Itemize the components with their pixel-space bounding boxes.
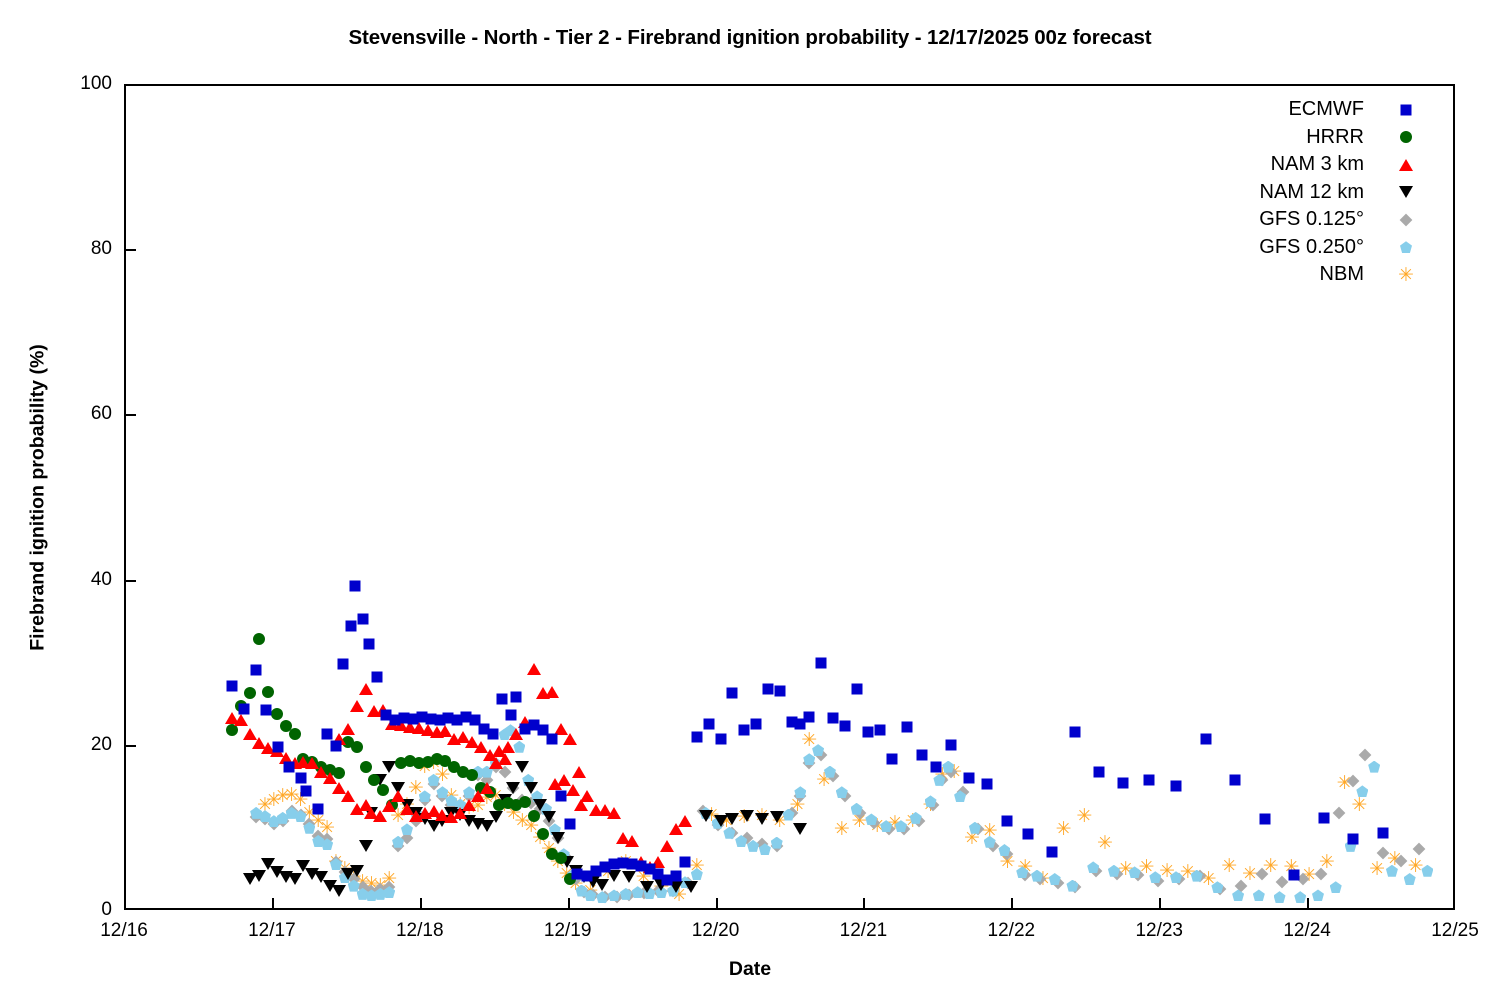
data-point <box>498 765 511 778</box>
data-point <box>513 741 525 753</box>
data-point <box>359 799 373 811</box>
data-point <box>315 761 327 773</box>
data-point <box>244 687 256 699</box>
legend-item-gfs-0-250[interactable]: GFS 0.250° <box>1160 234 1420 262</box>
data-point <box>252 870 266 882</box>
data-point <box>620 888 632 900</box>
data-point: ✳ <box>346 869 362 885</box>
data-point <box>582 871 593 882</box>
data-point <box>910 812 922 824</box>
data-point <box>957 786 970 799</box>
data-point <box>444 811 458 823</box>
data-point: ✳ <box>293 792 309 808</box>
data-point <box>296 860 310 872</box>
data-point <box>794 786 806 798</box>
data-point <box>536 687 550 699</box>
data-point <box>374 882 387 895</box>
data-point: ✳ <box>1337 775 1353 791</box>
data-point <box>580 790 594 802</box>
data-point <box>350 700 364 712</box>
data-point <box>1171 781 1182 792</box>
data-point <box>696 805 709 818</box>
legend: ECMWFHRRRNAM 3 kmNAM 12 kmGFS 0.125°GFS … <box>1160 96 1420 289</box>
data-point <box>887 754 898 765</box>
data-point <box>270 745 284 757</box>
data-point <box>427 805 441 817</box>
x-axis-title: Date <box>0 958 1500 981</box>
data-point <box>444 807 458 819</box>
data-point <box>456 731 470 743</box>
data-point <box>916 750 927 761</box>
data-point <box>981 778 992 789</box>
data-point <box>392 840 405 853</box>
data-point: ✳ <box>514 813 530 829</box>
data-point: ✳ <box>1283 859 1299 875</box>
data-point <box>998 844 1010 856</box>
data-point <box>703 718 714 729</box>
data-point <box>564 819 575 830</box>
data-point <box>472 766 484 778</box>
data-point <box>314 871 328 883</box>
data-point: ✳ <box>772 813 788 829</box>
data-point <box>815 749 828 762</box>
y-tick-label: 20 <box>52 734 112 756</box>
data-point: ✳ <box>618 854 634 870</box>
data-point <box>895 820 907 832</box>
data-point <box>1359 749 1372 762</box>
data-point <box>984 836 996 848</box>
data-point <box>445 794 457 806</box>
data-point: ✳ <box>1138 859 1154 875</box>
data-point <box>226 724 238 736</box>
data-point: ✳ <box>999 854 1015 870</box>
data-point <box>901 721 912 732</box>
data-point <box>394 719 408 731</box>
data-point <box>880 820 892 832</box>
data-point: ✳ <box>1097 835 1113 851</box>
data-point <box>969 822 981 834</box>
data-point <box>678 815 692 827</box>
data-point <box>286 807 298 819</box>
data-point <box>575 885 587 897</box>
data-point <box>347 873 360 886</box>
data-point <box>868 816 881 829</box>
data-point <box>654 879 668 891</box>
data-point <box>391 782 405 794</box>
data-point: ✳ <box>923 797 939 813</box>
data-point <box>1066 880 1078 892</box>
data-point <box>589 804 603 816</box>
data-point <box>567 869 579 881</box>
data-point <box>301 786 312 797</box>
data-point <box>489 760 502 773</box>
data-point <box>412 722 426 734</box>
data-point <box>534 802 547 815</box>
data-point: ✳ <box>434 767 450 783</box>
data-point <box>279 752 293 764</box>
data-point <box>635 860 646 871</box>
data-point <box>793 823 807 835</box>
data-point <box>531 790 543 802</box>
data-point <box>540 803 552 815</box>
data-point <box>1274 891 1286 903</box>
data-point <box>288 757 302 769</box>
data-point <box>359 683 373 695</box>
data-point <box>851 803 863 815</box>
data-point <box>253 633 265 645</box>
data-point: ✳ <box>1221 858 1237 874</box>
data-point <box>528 810 540 822</box>
data-point <box>1046 846 1057 857</box>
data-point <box>524 782 538 794</box>
data-point <box>783 809 795 821</box>
data-point <box>332 733 346 745</box>
data-point: ✳ <box>337 861 353 877</box>
data-point <box>478 723 489 734</box>
data-point <box>342 736 354 748</box>
data-point <box>374 888 386 900</box>
data-point: ✳ <box>964 830 980 846</box>
data-point <box>331 740 342 751</box>
data-point <box>341 868 355 880</box>
data-point <box>1173 873 1186 886</box>
data-point: ✳ <box>452 797 468 813</box>
data-point: ✳ <box>1263 858 1279 874</box>
data-point <box>312 830 325 843</box>
data-point <box>595 879 609 891</box>
data-point <box>1191 870 1203 882</box>
data-point <box>555 852 567 864</box>
data-point <box>422 756 434 768</box>
data-point <box>727 688 738 699</box>
data-point <box>365 889 377 901</box>
data-point: ✳ <box>834 821 850 837</box>
legend-item-nam-3-km[interactable]: NAM 3 km <box>1160 151 1420 179</box>
data-point <box>644 864 655 875</box>
data-point: ✳ <box>582 883 598 899</box>
data-point: ✳ <box>801 732 817 748</box>
data-point <box>259 812 272 825</box>
data-point <box>1368 761 1380 773</box>
data-point: ✳ <box>1408 858 1424 874</box>
data-point <box>323 772 337 784</box>
data-point <box>1312 889 1324 901</box>
data-point: ✳ <box>372 878 388 894</box>
data-point <box>936 773 949 786</box>
data-point: ✳ <box>852 813 868 829</box>
data-point <box>542 811 556 823</box>
data-point <box>1170 871 1182 883</box>
data-point: ✳ <box>1035 871 1051 887</box>
x-tick-label: 12/24 <box>1247 920 1367 942</box>
data-point <box>577 871 591 883</box>
data-point <box>572 869 583 880</box>
data-point <box>1347 775 1360 788</box>
data-point <box>452 714 463 725</box>
x-tick-label: 12/21 <box>803 920 923 942</box>
data-point <box>435 815 449 827</box>
data-point: ✳ <box>718 813 734 829</box>
data-point: ✳ <box>1118 861 1134 877</box>
data-point <box>239 703 250 714</box>
data-point <box>338 659 349 670</box>
data-point <box>634 856 648 868</box>
data-point <box>682 877 695 890</box>
data-point <box>332 885 346 897</box>
data-point <box>381 710 392 721</box>
data-point <box>933 774 945 786</box>
data-point: ✳ <box>443 788 459 804</box>
data-point <box>297 753 309 765</box>
data-point <box>762 683 773 694</box>
data-point <box>454 799 466 811</box>
legend-item-nam-12-km[interactable]: NAM 12 km <box>1160 179 1420 207</box>
data-point <box>1094 766 1105 777</box>
data-point <box>574 799 588 811</box>
data-point <box>756 838 769 851</box>
data-point <box>359 840 373 852</box>
data-point <box>360 761 372 773</box>
data-point <box>560 856 574 868</box>
data-point <box>436 786 448 798</box>
data-point <box>438 725 452 737</box>
data-point <box>1318 812 1329 823</box>
data-point <box>1002 816 1013 827</box>
data-point <box>368 774 380 786</box>
data-point <box>520 724 531 735</box>
data-point <box>341 723 355 735</box>
data-point <box>419 790 431 802</box>
data-point <box>386 799 398 811</box>
data-point <box>382 800 396 812</box>
data-point <box>243 873 257 885</box>
data-point <box>538 725 549 736</box>
y-tick-label: 0 <box>52 899 112 921</box>
data-point <box>276 815 289 828</box>
data-point <box>261 742 275 754</box>
data-point <box>640 881 654 893</box>
data-point <box>312 835 324 847</box>
data-point <box>591 865 602 876</box>
legend-item-gfs-0-125[interactable]: GFS 0.125° <box>1160 206 1420 234</box>
data-point <box>735 835 747 847</box>
data-point <box>586 876 600 888</box>
data-point <box>714 815 728 827</box>
data-point <box>430 726 444 738</box>
data-point: ✳ <box>399 797 415 813</box>
data-point <box>1214 882 1227 895</box>
y-axis-title: Firebrand ignition probability (%) <box>27 238 50 758</box>
data-point: ✳ <box>946 764 962 780</box>
data-point <box>465 736 479 748</box>
data-point <box>653 869 664 880</box>
data-point: ✳ <box>1301 867 1317 883</box>
data-point <box>723 827 735 839</box>
data-point <box>471 818 485 830</box>
data-point: ✳ <box>390 808 406 824</box>
data-point <box>655 886 667 898</box>
data-point <box>555 791 566 802</box>
data-point <box>1297 873 1310 886</box>
data-point <box>427 778 440 791</box>
y-tick-label: 100 <box>52 73 112 95</box>
data-point <box>546 848 558 860</box>
data-point <box>296 756 310 768</box>
data-point <box>483 749 497 761</box>
data-point <box>563 733 577 745</box>
data-point <box>416 712 427 723</box>
data-point: ✳ <box>257 797 273 813</box>
data-point <box>1356 785 1368 797</box>
data-point <box>498 753 512 765</box>
data-point <box>390 714 401 725</box>
y-tick-label: 40 <box>52 569 112 591</box>
data-point <box>525 797 538 810</box>
data-point <box>227 680 238 691</box>
data-point <box>323 880 337 892</box>
data-point <box>1149 871 1161 883</box>
y-tick-label: 60 <box>52 403 112 425</box>
data-point <box>498 794 512 806</box>
data-point: ✳ <box>754 808 770 824</box>
data-point: ✳ <box>284 787 300 803</box>
legend-item-nbm[interactable]: NBM✳ <box>1160 261 1420 289</box>
data-point <box>804 712 815 723</box>
data-point <box>1330 881 1342 893</box>
data-point <box>652 884 665 897</box>
data-point <box>268 815 280 827</box>
data-point <box>303 822 315 834</box>
data-point <box>608 889 620 901</box>
data-point <box>392 836 404 848</box>
data-point <box>771 837 783 849</box>
data-point: ✳ <box>1076 808 1092 824</box>
data-point <box>660 840 674 852</box>
data-point <box>475 782 487 794</box>
data-point <box>399 712 410 723</box>
data-point <box>345 621 356 632</box>
data-point <box>1404 873 1416 885</box>
data-point <box>836 786 848 798</box>
data-point <box>679 876 691 888</box>
data-point <box>487 729 498 740</box>
data-point <box>725 813 739 825</box>
data-point <box>712 817 724 829</box>
data-point <box>409 810 423 822</box>
data-point <box>453 809 467 821</box>
data-point <box>403 721 417 733</box>
data-point <box>1294 891 1306 903</box>
x-tick-label: 12/19 <box>508 920 628 942</box>
data-point <box>270 866 284 878</box>
data-point <box>251 664 262 675</box>
data-point <box>252 737 266 749</box>
data-point <box>1377 846 1390 859</box>
data-point <box>794 790 807 803</box>
legend-item-label: GFS 0.250° <box>1259 234 1364 262</box>
data-point <box>812 744 824 756</box>
data-point <box>410 807 422 819</box>
data-point <box>1345 840 1357 852</box>
data-point: ✳ <box>1387 851 1403 867</box>
data-point <box>519 796 531 808</box>
data-point <box>622 871 636 883</box>
data-point <box>1348 834 1359 845</box>
data-point: ✳ <box>1369 861 1385 877</box>
firebrand-ignition-probability-chart: Stevensville - North - Tier 2 - Firebran… <box>0 0 1500 1000</box>
data-point <box>598 804 612 816</box>
data-point <box>691 731 702 742</box>
data-point: ✳ <box>736 809 752 825</box>
data-point <box>927 798 940 811</box>
data-point: ✳ <box>905 813 921 829</box>
data-point <box>912 815 925 828</box>
data-point <box>853 807 866 820</box>
data-point <box>496 693 507 704</box>
data-point <box>273 741 284 752</box>
data-point <box>546 733 557 744</box>
data-point <box>492 745 506 757</box>
data-point <box>726 826 739 839</box>
data-point: ✳ <box>488 788 504 804</box>
x-tick-label: 12/17 <box>212 920 332 942</box>
data-point <box>350 803 364 815</box>
data-point <box>1200 733 1211 744</box>
data-point <box>305 868 319 880</box>
data-point <box>262 686 274 698</box>
data-point <box>506 782 520 794</box>
data-point <box>413 757 425 769</box>
data-point <box>803 757 816 770</box>
data-point <box>400 803 414 815</box>
data-point: ✳ <box>600 864 616 880</box>
data-point <box>367 705 381 717</box>
data-point <box>501 741 515 753</box>
data-point <box>474 741 488 753</box>
data-point: ✳ <box>426 755 442 771</box>
legend-item-ecmwf[interactable]: ECMWF <box>1160 96 1420 124</box>
data-point: ✳ <box>363 876 379 892</box>
data-point <box>518 716 532 728</box>
data-point: ✳ <box>541 841 557 857</box>
data-point <box>1289 869 1300 880</box>
legend-item-label: GFS 0.125° <box>1259 206 1364 234</box>
legend-item-hrrr[interactable]: HRRR <box>1160 124 1420 152</box>
x-tick-label: 12/25 <box>1395 920 1500 942</box>
data-point <box>261 858 275 870</box>
y-tick-label: 80 <box>52 238 112 260</box>
data-point <box>564 873 576 885</box>
data-point: ✳ <box>505 805 521 821</box>
data-point: ✳ <box>310 813 326 829</box>
legend-item-label: NBM <box>1320 261 1364 289</box>
data-point <box>425 713 436 724</box>
data-point <box>509 728 523 740</box>
data-point <box>711 819 724 832</box>
data-point: ✳ <box>550 854 566 870</box>
data-point <box>839 721 850 732</box>
data-point <box>669 881 683 893</box>
data-point <box>1211 881 1223 893</box>
data-point: ✳ <box>470 798 486 814</box>
data-point <box>963 773 974 784</box>
data-point <box>295 773 306 784</box>
data-point <box>522 774 534 786</box>
data-point <box>770 811 784 823</box>
data-point <box>295 810 307 822</box>
data-point <box>616 832 630 844</box>
data-point <box>447 733 461 745</box>
